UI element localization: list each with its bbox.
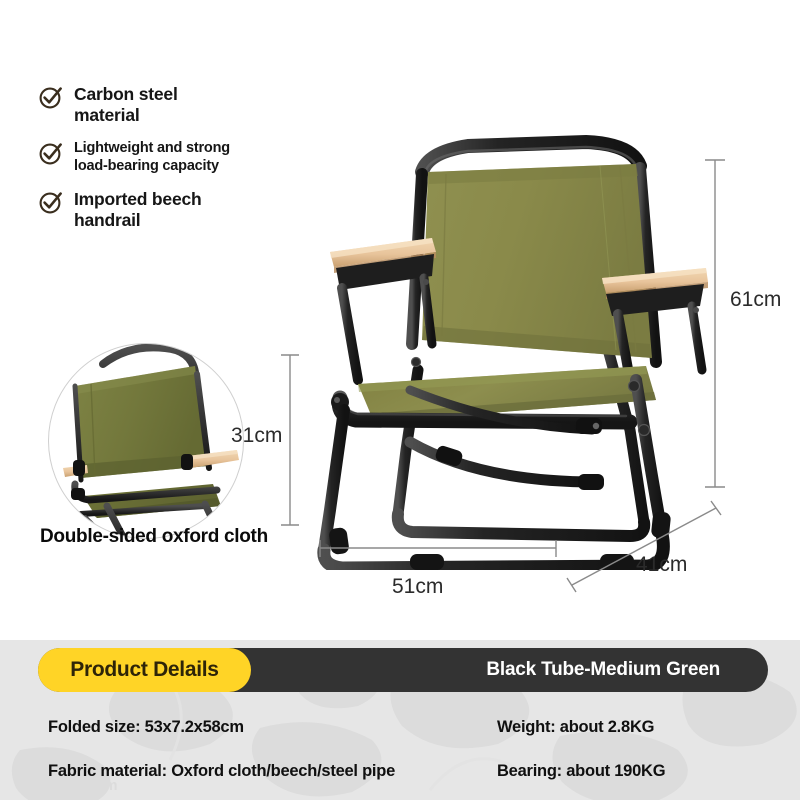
chair-mid-rail [410,442,604,490]
inset-detail-view [48,343,244,539]
inset-circle-frame [48,343,244,539]
panel-header-row: Black Tube-Medium Green Product Delails [38,648,768,692]
main-chair-product-image [300,130,720,570]
feature-label: Carbon steel material [74,84,178,126]
dimension-label-width: 51cm [392,575,443,599]
spec-weight: Weight: about 2.8KG [497,718,654,737]
folded-chair-illustration [48,343,244,539]
feature-item-carbon-steel: Carbon steel material [38,84,178,126]
feature-label: Imported beech handrail [74,189,202,231]
check-circle-icon [38,84,64,110]
feature-item-lightweight: Lightweight and strong load-bearing capa… [38,140,230,175]
chair-left-armrest [330,238,436,380]
product-infographic: Carbon steel material Lightweight and st… [0,0,800,800]
spec-folded-size: Folded size: 53x7.2x58cm [48,718,244,737]
check-circle-icon [38,140,64,166]
chair-illustration [300,130,720,570]
dimension-label-height: 61cm [730,288,781,312]
dimension-label-depth: 41cm [636,553,687,577]
inset-caption: Double-sided oxford cloth [40,526,340,548]
variant-label: Black Tube-Medium Green [486,648,720,692]
feature-item-beech-handrail: Imported beech handrail [38,189,202,231]
feature-label: Lightweight and strong load-bearing capa… [74,140,230,175]
dimension-label-back-height: 31cm [231,424,282,448]
watermark: 21b20.com [36,777,118,794]
spec-bearing: Bearing: about 190KG [497,762,665,781]
product-details-badge-label: Product Delails [38,648,251,692]
check-circle-icon [38,189,64,215]
product-details-panel: Black Tube-Medium Green Product Delails … [0,640,800,800]
